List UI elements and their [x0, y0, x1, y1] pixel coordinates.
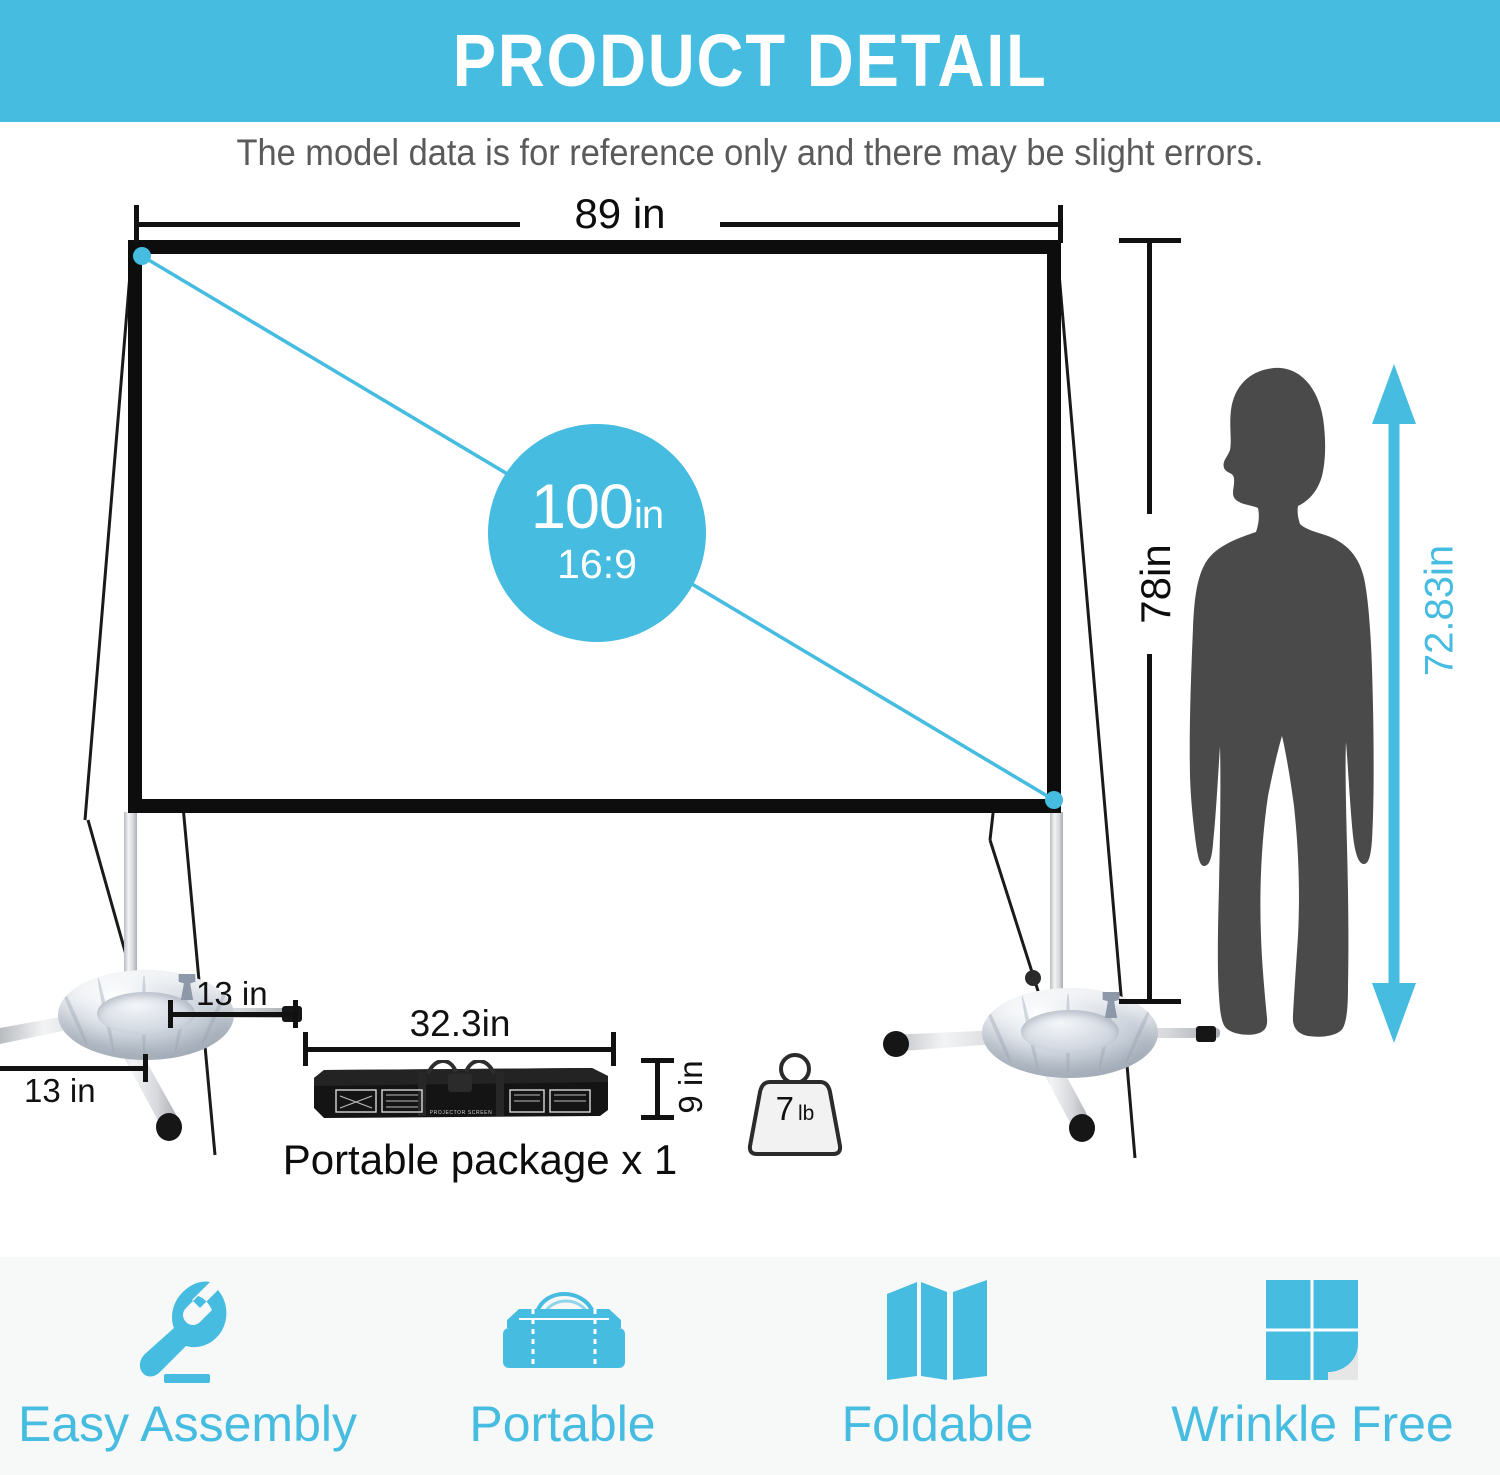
page-title: PRODUCT DETAIL [452, 24, 1047, 98]
duffel-bag-icon [493, 1271, 633, 1391]
header-bar: PRODUCT DETAIL [0, 0, 1500, 122]
screen-width-label: 89 in [520, 190, 720, 238]
feature-easy-assembly: Easy Assembly [8, 1271, 368, 1453]
badge-aspect-ratio: 16:9 [557, 541, 637, 588]
base-diameter-label-b: 13 in [24, 1072, 96, 1110]
badge-size: 100in [531, 478, 663, 538]
feature-foldable: Foldable [758, 1271, 1118, 1453]
wrench-icon [138, 1271, 238, 1391]
badge-size-number: 100 [531, 478, 633, 538]
package-height-label: 9 in [672, 1032, 710, 1142]
person-silhouette-icon [1186, 366, 1376, 1041]
disclaimer-text: The model data is for reference only and… [53, 132, 1448, 174]
screen-height-label: 78in [1132, 514, 1180, 654]
weight-unit: lb [798, 1102, 814, 1125]
carry-bag-image: PROJECTOR SCREEN [310, 1060, 612, 1122]
person-height-arrow [1370, 362, 1418, 1045]
base-diameter-dimension-line-b [0, 1066, 146, 1071]
weight-value: 7 [776, 1090, 794, 1127]
package-length-dimension-line [305, 1047, 614, 1052]
bag-print-text: PROJECTOR SCREEN [430, 1110, 493, 1116]
feature-label: Wrinkle Free [1171, 1395, 1453, 1453]
folded-map-icon [883, 1271, 993, 1391]
feature-wrinkle-free: Wrinkle Free [1133, 1271, 1493, 1453]
package-height-dimension-line [655, 1060, 660, 1118]
feature-portable: Portable [383, 1271, 743, 1453]
fabric-grid-icon [1258, 1271, 1368, 1391]
base-inner-right [1021, 1010, 1120, 1053]
package-length-label: 32.3in [360, 1003, 560, 1045]
product-detail-infographic: PRODUCT DETAIL The model data is for ref… [0, 0, 1500, 1475]
feature-label: Foldable [842, 1395, 1034, 1453]
base-diameter-label-a: 13 in [196, 975, 268, 1013]
feature-bar: Easy Assembly Portable [0, 1257, 1500, 1475]
screen-size-badge: 100in 16:9 [488, 424, 706, 642]
feature-label: Portable [469, 1395, 655, 1453]
feature-label: Easy Assembly [18, 1395, 357, 1453]
package-caption: Portable package x 1 [255, 1136, 705, 1184]
weight-label: 7lb [740, 1090, 850, 1128]
person-height-label: 72.83in [1418, 511, 1463, 711]
badge-size-unit: in [634, 496, 663, 534]
